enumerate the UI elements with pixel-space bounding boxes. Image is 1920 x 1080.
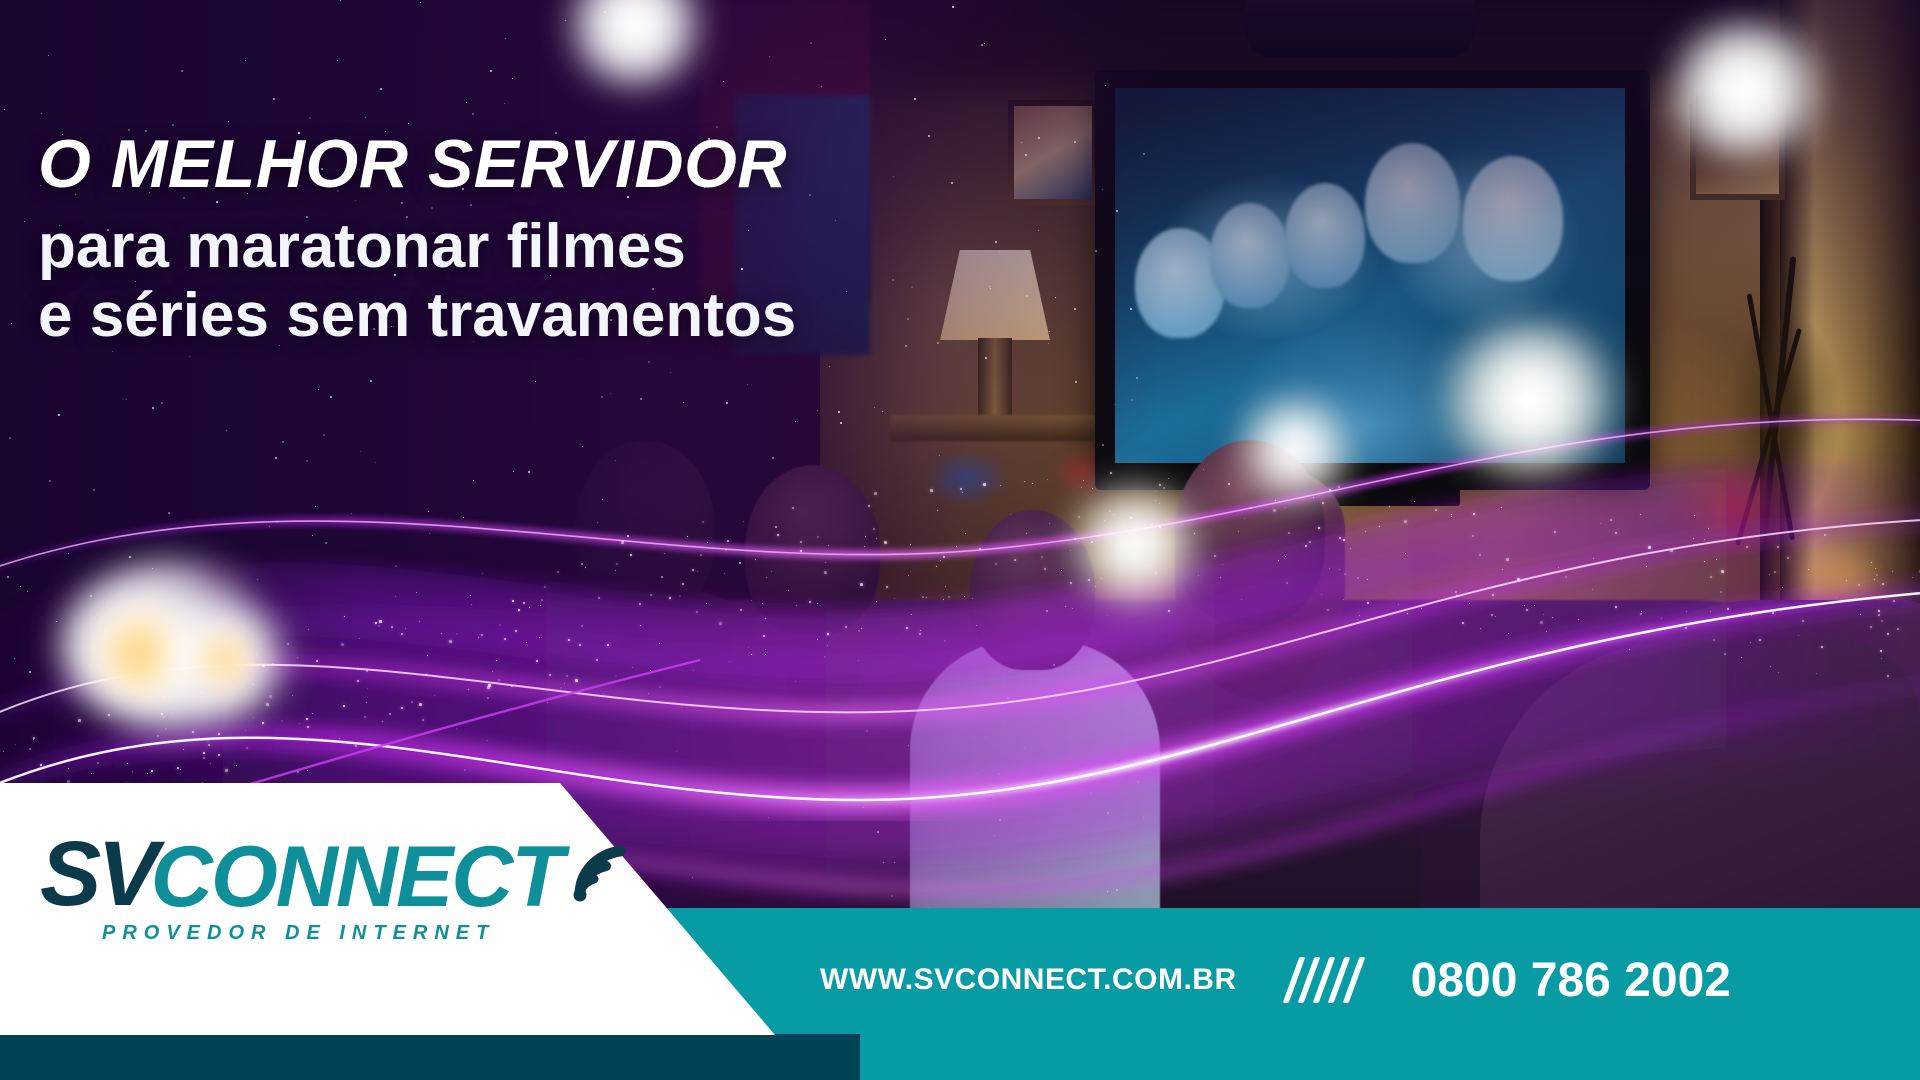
headline-line-1: O MELHOR SERVIDOR	[38, 130, 1038, 198]
slash-divider-icon	[1291, 957, 1357, 1003]
logo-connect-text: CONNECT	[151, 839, 562, 916]
advertisement-banner: O MELHOR SERVIDOR para maratonar filmes …	[0, 0, 1920, 1080]
bottom-navy-strip	[0, 1034, 860, 1080]
logo-tagline: PROVEDOR DE INTERNET	[102, 922, 560, 945]
phone-number[interactable]: 0800 786 2002	[1411, 953, 1731, 1008]
headline-line-2: para maratonar filmes	[38, 212, 1038, 281]
headline-block: O MELHOR SERVIDOR para maratonar filmes …	[38, 130, 1038, 351]
brand-logo[interactable]: SV CONNECT PROVEDOR DE INTERNET	[40, 833, 560, 983]
logo-sv-text: SV	[40, 833, 155, 916]
wifi-signal-icon	[568, 833, 634, 910]
headline-line-3: e séries sem travamentos	[38, 281, 1038, 350]
logo-wordmark: SV CONNECT	[40, 833, 560, 916]
contact-row: WWW.SVCONNECT.COM.BR 0800 786 2002	[820, 940, 1900, 1020]
website-url[interactable]: WWW.SVCONNECT.COM.BR	[820, 963, 1237, 997]
